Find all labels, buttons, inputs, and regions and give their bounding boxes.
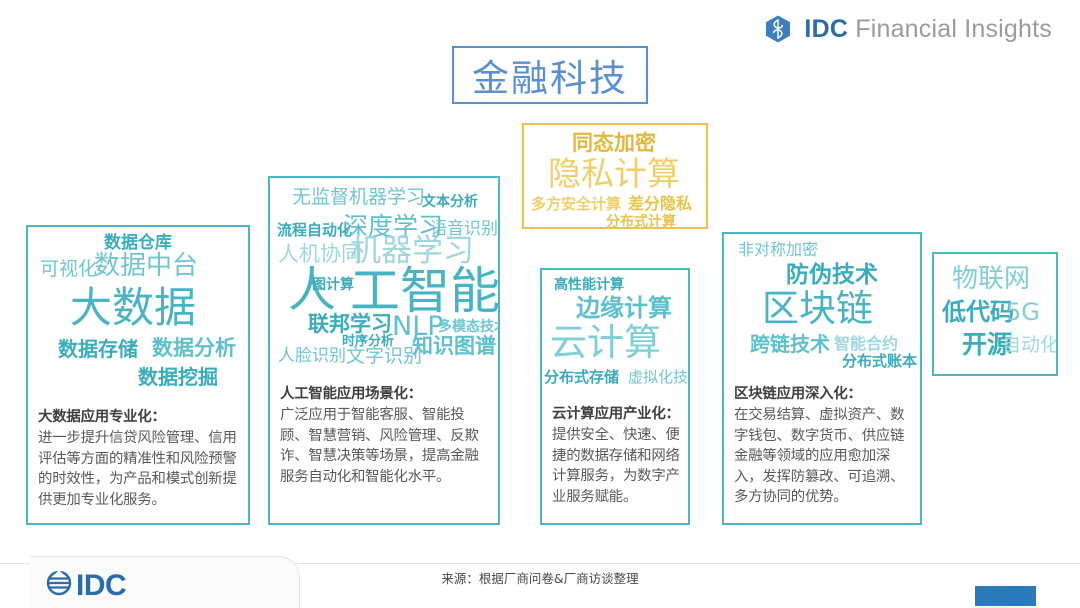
wordcloud-term: 分布式计算: [606, 215, 676, 229]
wordcloud-term: 文字识别: [346, 347, 422, 366]
wordcloud-term: 智能合约: [834, 336, 898, 352]
wordcloud-term: 低代码: [942, 300, 1014, 324]
slide-canvas: IDC Financial Insights 金融科技 数据仓库可视化数据中台大…: [0, 0, 1080, 608]
wordcloud-term: 物联网: [952, 266, 1030, 292]
wordcloud-term: 数据存储: [58, 339, 138, 359]
card-paragraph-ai: 广泛应用于智能客服、智能投顾、智慧营销、风险管理、反欺诈、智慧决策等场景，提高金…: [280, 407, 479, 484]
wordcloud-ai: 无监督机器学习文本分析流程自动化深度学习语音识别人机协同机器学习人图计算工智能联…: [270, 178, 498, 374]
wordcloud-term: 自动化: [1002, 336, 1056, 355]
footer-source-note: 来源：根据厂商问卷&厂商访谈整理: [0, 568, 1080, 587]
wordcloud-term: 分布式账本: [842, 354, 917, 369]
wordcloud-cloud-computing: 高性能计算边缘计算云计算分布式存储虚拟化技术: [542, 270, 688, 394]
wordcloud-big-data: 数据仓库可视化数据中台大数据数据存储数据分析数据挖掘: [28, 227, 248, 397]
card-ai[interactable]: 无监督机器学习文本分析流程自动化深度学习语音识别人机协同机器学习人图计算工智能联…: [268, 176, 500, 525]
wordcloud-term: 大数据: [70, 287, 196, 329]
card-paragraph-big-data: 进一步提升信贷风险管理、信用评估等方面的精准性和风险预警的时效性，为产品和模式创…: [38, 430, 237, 507]
idc-hexagon-logo-icon: [763, 14, 793, 44]
wordcloud-term: 云计算: [550, 324, 661, 361]
wordcloud-term: 差分隐私: [628, 196, 692, 212]
wordcloud-term: 人脸识别: [278, 348, 346, 365]
brand-header: IDC Financial Insights: [763, 14, 1052, 44]
wordcloud-term: 边缘计算: [576, 296, 672, 320]
wordcloud-term: 数据分析: [152, 338, 236, 359]
page-title: 金融科技: [452, 46, 648, 104]
wordcloud-term: 流程自动化: [277, 223, 352, 238]
wordcloud-term: 5G: [1006, 300, 1040, 324]
card-paragraph-blockchain: 在交易结算、虚拟资产、数字钱包、数字货币、供应链金融等领域的应用愈加深入，发挥防…: [734, 407, 904, 505]
wordcloud-term: 无监督机器学习: [292, 188, 425, 207]
wordcloud-term: 数据中台: [94, 253, 198, 279]
wordcloud-term: 高性能计算: [554, 278, 624, 292]
card-body-blockchain: 区块链应用深入化：在交易结算、虚拟资产、数字钱包、数字货币、供应链金融等领域的应…: [734, 384, 912, 508]
card-paragraph-cloud-computing: 提供安全、快速、便捷的数据存储和网络计算服务，为数字产业服务赋能。: [552, 427, 680, 504]
wordcloud-term: 图计算: [312, 278, 354, 292]
wordcloud-blockchain: 非对称加密防伪技术区块链跨链技术智能合约分布式账本: [724, 234, 920, 374]
wordcloud-term: 数据挖掘: [138, 367, 218, 387]
card-heading-cloud-computing: 云计算应用产业化：: [552, 404, 680, 424]
wordcloud-iot: 物联网低代码5G开源自动化: [934, 254, 1056, 376]
card-blockchain[interactable]: 非对称加密防伪技术区块链跨链技术智能合约分布式账本 区块链应用深入化：在交易结算…: [722, 232, 922, 525]
wordcloud-term: 虚拟化技术: [628, 370, 688, 385]
wordcloud-term: 隐私计算: [548, 157, 680, 190]
wordcloud-term: 知识图谱: [412, 336, 496, 357]
brand-name-bold: IDC: [804, 15, 848, 43]
card-heading-ai: 人工智能应用场景化：: [280, 384, 490, 404]
wordcloud-term: 可视化: [40, 260, 97, 279]
wordcloud-privacy-computing: 同态加密隐私计算多方安全计算差分隐私分布式计算: [524, 125, 706, 231]
wordcloud-term: 防伪技术: [786, 264, 878, 287]
card-heading-blockchain: 区块链应用深入化：: [734, 384, 912, 404]
wordcloud-term: 多模态技术: [438, 320, 498, 334]
wordcloud-term: 区块链: [762, 290, 873, 327]
brand-wordmark: IDC Financial Insights: [804, 15, 1052, 44]
wordcloud-term: 数据仓库: [104, 235, 172, 252]
footer-accent-chip: [975, 586, 1036, 606]
card-privacy-computing[interactable]: 同态加密隐私计算多方安全计算差分隐私分布式计算: [522, 123, 708, 229]
wordcloud-term: 同态加密: [572, 133, 656, 154]
wordcloud-term: 文本分析: [422, 195, 478, 209]
card-body-cloud-computing: 云计算应用产业化：提供安全、快速、便捷的数据存储和网络计算服务，为数字产业服务赋…: [552, 404, 680, 507]
card-heading-big-data: 大数据应用专业化：: [38, 407, 240, 427]
card-iot[interactable]: 物联网低代码5G开源自动化: [932, 252, 1058, 376]
wordcloud-term: 多方安全计算: [531, 197, 621, 212]
card-body-ai: 人工智能应用场景化：广泛应用于智能客服、智能投顾、智慧营销、风险管理、反欺诈、智…: [280, 384, 490, 487]
wordcloud-term: 跨链技术: [750, 334, 830, 354]
card-big-data[interactable]: 数据仓库可视化数据中台大数据数据存储数据分析数据挖掘 大数据应用专业化：进一步提…: [26, 225, 250, 525]
wordcloud-term: 工智能: [350, 266, 498, 316]
page-title-text: 金融科技: [472, 48, 628, 102]
wordcloud-term: 分布式存储: [544, 370, 619, 385]
wordcloud-term: 联邦学习: [308, 314, 392, 335]
card-cloud-computing[interactable]: 高性能计算边缘计算云计算分布式存储虚拟化技术 云计算应用产业化：提供安全、快速、…: [540, 268, 690, 525]
wordcloud-term: 非对称加密: [738, 242, 818, 258]
brand-name-light: Financial Insights: [855, 15, 1052, 43]
card-body-big-data: 大数据应用专业化：进一步提升信贷风险管理、信用评估等方面的精准性和风险预警的时效…: [38, 407, 240, 510]
